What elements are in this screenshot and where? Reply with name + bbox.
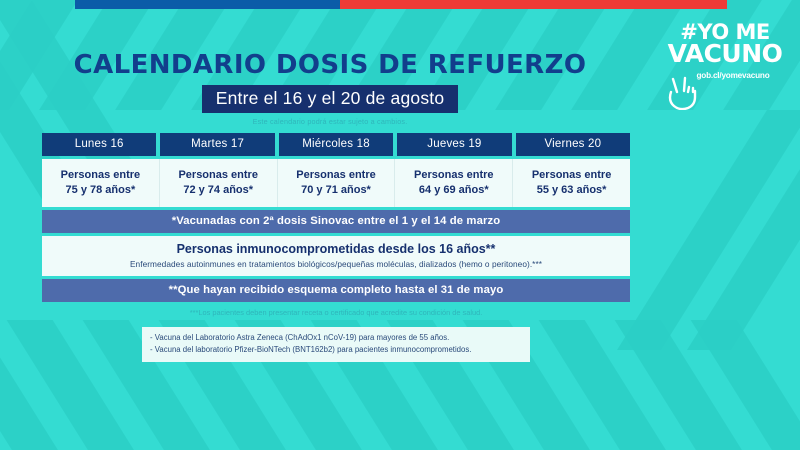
day-cell-line2: 55 y 63 años*	[515, 183, 628, 198]
flag-strip-red	[340, 0, 727, 9]
immunocompromised-title: Personas inmunocomprometidas desde los 1…	[46, 242, 626, 256]
poster-header: CALENDARIO DOSIS DE REFUERZO Entre el 16…	[0, 50, 660, 126]
day-cell-miercoles: Personas entre 70 y 71 años*	[278, 159, 396, 207]
day-cell-line1: Personas entre	[515, 168, 628, 183]
day-header-row: Lunes 16 Martes 17 Miércoles 18 Jueves 1…	[42, 133, 630, 156]
victory-hand-icon	[666, 70, 700, 110]
day-header-miercoles: Miércoles 18	[279, 133, 393, 156]
calendar-panel: Lunes 16 Martes 17 Miércoles 18 Jueves 1…	[42, 133, 630, 362]
day-cell-line2: 75 y 78 años*	[44, 183, 157, 198]
immunocompromised-detail: Enfermedades autoinmunes en tratamientos…	[46, 259, 626, 269]
date-range-subtitle: Entre el 16 y el 20 de agosto	[202, 85, 459, 113]
day-header-jueves: Jueves 19	[397, 133, 511, 156]
yo-me-vacuno-logo: #YO ME VACUNO gob.cl/yomevacuno	[664, 22, 786, 106]
day-cell-martes: Personas entre 72 y 74 años*	[160, 159, 278, 207]
day-header-martes: Martes 17	[160, 133, 274, 156]
day-cell-viernes: Personas entre 55 y 63 años*	[513, 159, 630, 207]
day-cell-jueves: Personas entre 64 y 69 años*	[395, 159, 513, 207]
day-header-viernes: Viernes 20	[516, 133, 630, 156]
immunocompromised-box: Personas inmunocomprometidas desde los 1…	[42, 236, 630, 276]
note-band-esquema-completo: **Que hayan recibido esquema completo ha…	[42, 279, 630, 302]
vaccine-line-astrazeneca: - Vacuna del Laboratorio Astra Zeneca (C…	[150, 332, 522, 344]
day-cell-line1: Personas entre	[280, 168, 393, 183]
footnote-certificate: ***Los pacientes deben presentar receta …	[42, 308, 630, 317]
change-notice: Este calendario podrá estar sujeto a cam…	[0, 117, 660, 126]
day-header-lunes: Lunes 16	[42, 133, 156, 156]
flag-color-strip	[75, 0, 727, 9]
poster-canvas: #YO ME VACUNO gob.cl/yomevacuno CALENDAR…	[0, 0, 800, 450]
flag-strip-blue	[75, 0, 340, 9]
day-cell-line2: 72 y 74 años*	[162, 183, 275, 198]
day-cell-line1: Personas entre	[162, 168, 275, 183]
day-cell-line2: 70 y 71 años*	[280, 183, 393, 198]
logo-line-2: VACUNO	[664, 41, 786, 66]
vaccine-info-box: - Vacuna del Laboratorio Astra Zeneca (C…	[142, 327, 530, 362]
page-title: CALENDARIO DOSIS DE REFUERZO	[0, 50, 660, 80]
day-cell-line1: Personas entre	[44, 168, 157, 183]
day-cell-line1: Personas entre	[397, 168, 510, 183]
day-cell-lunes: Personas entre 75 y 78 años*	[42, 159, 160, 207]
day-cell-line2: 64 y 69 años*	[397, 183, 510, 198]
day-content-row: Personas entre 75 y 78 años* Personas en…	[42, 159, 630, 207]
note-band-sinovac: *Vacunadas con 2ª dosis Sinovac entre el…	[42, 210, 630, 233]
vaccine-line-pfizer: - Vacuna del laboratorio Pfizer-BioNTech…	[150, 344, 522, 356]
